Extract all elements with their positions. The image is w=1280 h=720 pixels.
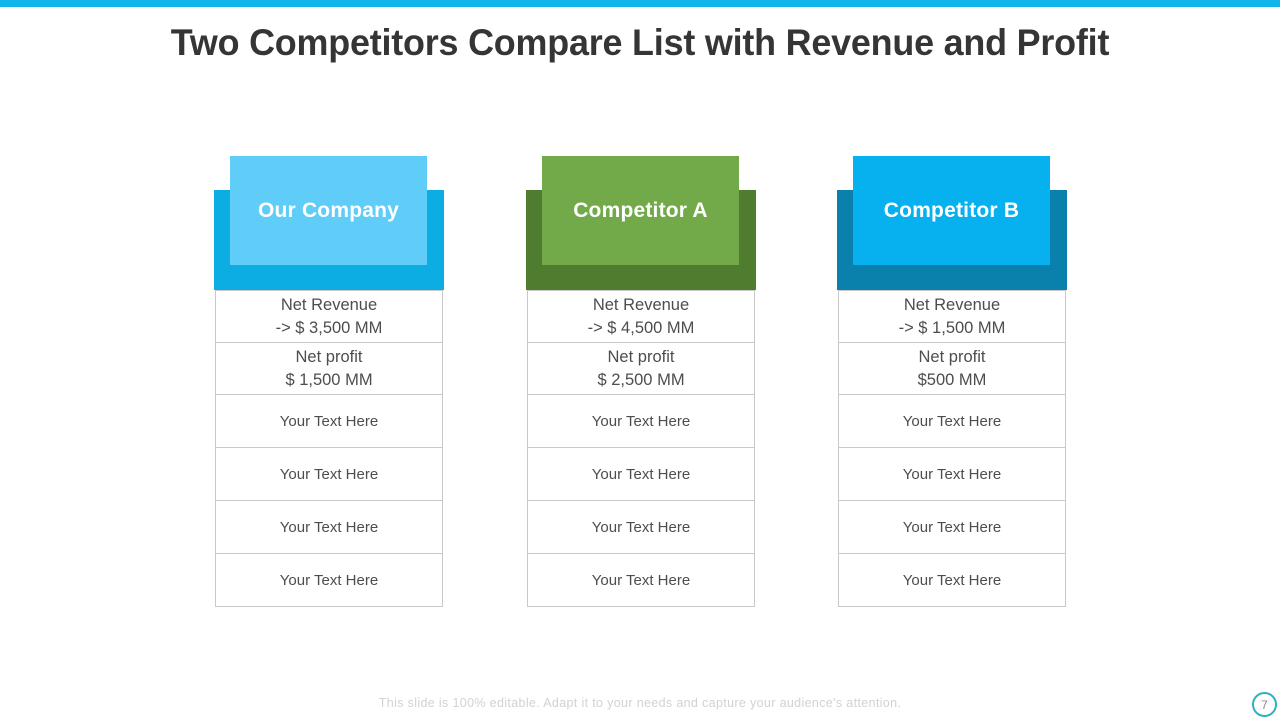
cell-line-primary: Your Text Here [592, 572, 690, 589]
table-row[interactable]: Your Text Here [216, 395, 442, 448]
cell-line-secondary: -> $ 3,500 MM [276, 317, 383, 339]
table-row[interactable]: Your Text Here [839, 395, 1065, 448]
cell-line-primary: Your Text Here [592, 466, 690, 483]
table-row[interactable]: Your Text Here [839, 554, 1065, 607]
cell-line-secondary: -> $ 1,500 MM [899, 317, 1006, 339]
column-cells-competitor-b: Net Revenue -> $ 1,500 MM Net profit $50… [838, 290, 1066, 607]
table-row[interactable]: Net Revenue -> $ 3,500 MM [216, 291, 442, 343]
table-row[interactable]: Your Text Here [839, 501, 1065, 554]
table-row[interactable]: Your Text Here [528, 501, 754, 554]
column-cells-our-company: Net Revenue -> $ 3,500 MM Net profit $ 1… [215, 290, 443, 607]
table-row[interactable]: Net profit $ 2,500 MM [528, 343, 754, 395]
table-row[interactable]: Your Text Here [528, 395, 754, 448]
cell-line-primary: Your Text Here [592, 413, 690, 430]
cell-line-primary: Your Text Here [280, 413, 378, 430]
cell-line-primary: Net profit [608, 346, 675, 368]
comparison-column-our-company: Our Company Net Revenue -> $ 3,500 MM Ne… [214, 150, 444, 290]
cell-line-secondary: $500 MM [918, 369, 987, 391]
table-row[interactable]: Net Revenue -> $ 4,500 MM [528, 291, 754, 343]
column-header-our-company: Our Company [214, 150, 444, 290]
cell-line-primary: Your Text Here [903, 519, 1001, 536]
page-title: Two Competitors Compare List with Revenu… [93, 22, 1187, 64]
cell-line-primary: Your Text Here [903, 413, 1001, 430]
cell-line-secondary: $ 1,500 MM [285, 369, 372, 391]
column-header-label: Our Company [258, 199, 399, 222]
column-header-label: Competitor B [884, 199, 1019, 222]
table-row[interactable]: Your Text Here [216, 501, 442, 554]
header-front-panel: Competitor B [853, 156, 1050, 265]
table-row[interactable]: Net profit $ 1,500 MM [216, 343, 442, 395]
footer-note: This slide is 100% editable. Adapt it to… [0, 696, 1280, 710]
table-row[interactable]: Your Text Here [216, 554, 442, 607]
cell-line-primary: Your Text Here [592, 519, 690, 536]
table-row[interactable]: Your Text Here [528, 554, 754, 607]
cell-line-primary: Your Text Here [903, 466, 1001, 483]
cell-line-primary: Net Revenue [904, 294, 1000, 316]
cell-line-primary: Net profit [296, 346, 363, 368]
header-front-panel: Competitor A [542, 156, 739, 265]
page-number-badge: 7 [1252, 692, 1277, 717]
column-cells-competitor-a: Net Revenue -> $ 4,500 MM Net profit $ 2… [527, 290, 755, 607]
table-row[interactable]: Your Text Here [528, 448, 754, 501]
comparison-columns: Our Company Net Revenue -> $ 3,500 MM Ne… [0, 150, 1280, 620]
cell-line-primary: Net Revenue [593, 294, 689, 316]
table-row[interactable]: Your Text Here [839, 448, 1065, 501]
table-row[interactable]: Net Revenue -> $ 1,500 MM [839, 291, 1065, 343]
cell-line-primary: Your Text Here [903, 572, 1001, 589]
table-row[interactable]: Your Text Here [216, 448, 442, 501]
cell-line-primary: Your Text Here [280, 572, 378, 589]
cell-line-secondary: -> $ 4,500 MM [588, 317, 695, 339]
header-front-panel: Our Company [230, 156, 427, 265]
comparison-column-competitor-a: Competitor A Net Revenue -> $ 4,500 MM N… [526, 150, 756, 290]
cell-line-primary: Net Revenue [281, 294, 377, 316]
cell-line-secondary: $ 2,500 MM [597, 369, 684, 391]
column-header-competitor-a: Competitor A [526, 150, 756, 290]
column-header-competitor-b: Competitor B [837, 150, 1067, 290]
table-row[interactable]: Net profit $500 MM [839, 343, 1065, 395]
top-accent-bar [0, 0, 1280, 7]
cell-line-primary: Your Text Here [280, 519, 378, 536]
cell-line-primary: Net profit [919, 346, 986, 368]
comparison-column-competitor-b: Competitor B Net Revenue -> $ 1,500 MM N… [837, 150, 1067, 290]
cell-line-primary: Your Text Here [280, 466, 378, 483]
column-header-label: Competitor A [573, 199, 708, 222]
